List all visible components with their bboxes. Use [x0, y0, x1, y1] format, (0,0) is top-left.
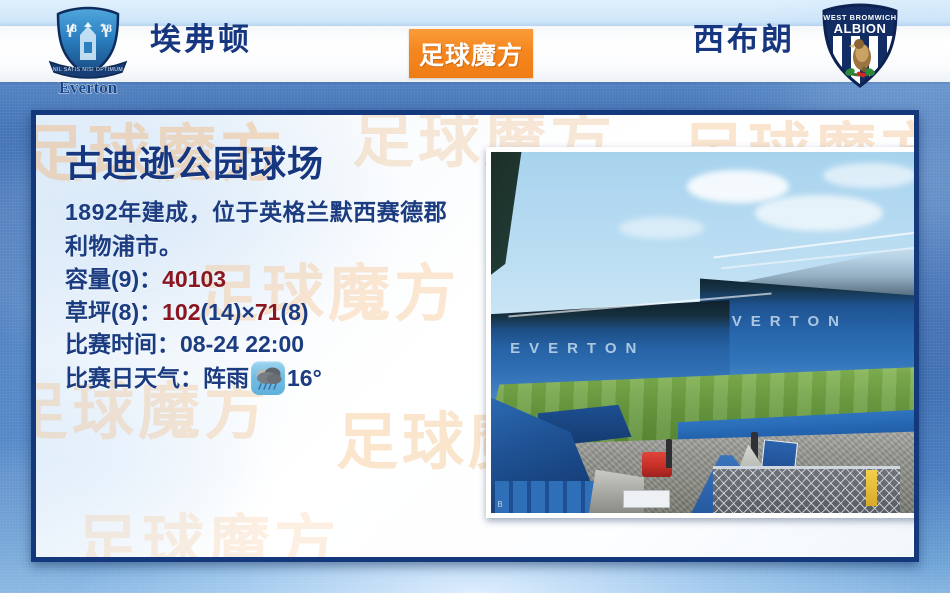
photo-yellow-post: [866, 470, 877, 506]
pitch-times-symbol: ×: [241, 299, 254, 325]
weather-row: 比赛日天气：阵雨 16°: [65, 361, 495, 395]
svg-text:NIL SATIS NISI OPTIMUM: NIL SATIS NISI OPTIMUM: [53, 67, 123, 73]
west-bromwich-albion-crest: WEST BROMWICH ALBION: [812, 2, 908, 94]
capacity-value: 40103: [162, 266, 226, 292]
photo-cloud: [619, 217, 704, 239]
svg-text:18: 18: [65, 21, 77, 35]
pitch-width-rank: (8): [280, 299, 308, 325]
weather-value: 阵雨: [203, 362, 249, 395]
pitch-length-value: 102: [162, 299, 200, 325]
photo-corner-stamp: B: [497, 500, 502, 509]
photo-post: [666, 439, 673, 468]
svg-text:Everton: Everton: [59, 78, 118, 97]
stadium-info: 古迪逊公园球场 1892年建成，位于英格兰默西赛德郡利物浦市。 容量(9)：40…: [65, 143, 495, 395]
photo-notice-plate: [623, 490, 670, 508]
photo-stand-text: EVERTON: [510, 340, 645, 357]
svg-text:78: 78: [100, 21, 112, 35]
site-logo[interactable]: 足球魔方: [409, 29, 533, 78]
stadium-description: 1892年建成，位于英格兰默西赛德郡利物浦市。: [65, 196, 457, 263]
temperature-value: 16°: [287, 362, 322, 395]
photo-stand-text: EVERTON: [713, 313, 848, 330]
goodison-park-photo: EVERTON EVERTON: [486, 147, 919, 518]
svg-text:ALBION: ALBION: [834, 21, 887, 36]
capacity-label: 容量(9)：: [65, 266, 162, 292]
away-team-name: 西布朗: [693, 24, 795, 55]
everton-crest: 18 78 NIL SATIS NISI OPTIMUM Everton: [38, 2, 138, 98]
pitch-row: 草坪(8)：102(14)×71(8): [65, 296, 495, 329]
shower-rain-icon: [251, 361, 285, 395]
site-logo-text: 足球魔方: [419, 36, 523, 72]
pitch-label: 草坪(8)：: [65, 299, 162, 325]
photo-cloud: [823, 163, 917, 188]
match-time-row: 比赛时间：08-24 22:00: [65, 328, 495, 361]
capacity-row: 容量(9)：40103: [65, 263, 495, 296]
pitch-length-rank: (14): [201, 299, 242, 325]
info-panel: 足球魔方 足球魔方 足球魔方 足球魔方 足球魔方 足球魔方 足球魔方 足球魔方 …: [31, 110, 919, 562]
match-time-value: 08-24 22:00: [180, 331, 304, 357]
photo-cloud: [687, 170, 789, 202]
pitch-width-value: 71: [255, 299, 281, 325]
stadium-title: 古迪逊公园球场: [65, 143, 495, 184]
weather-label: 比赛日天气：: [65, 362, 203, 395]
match-time-label: 比赛时间：: [65, 331, 180, 357]
home-team-name: 埃弗顿: [150, 24, 252, 55]
watermark: 足球魔方: [76, 513, 340, 562]
